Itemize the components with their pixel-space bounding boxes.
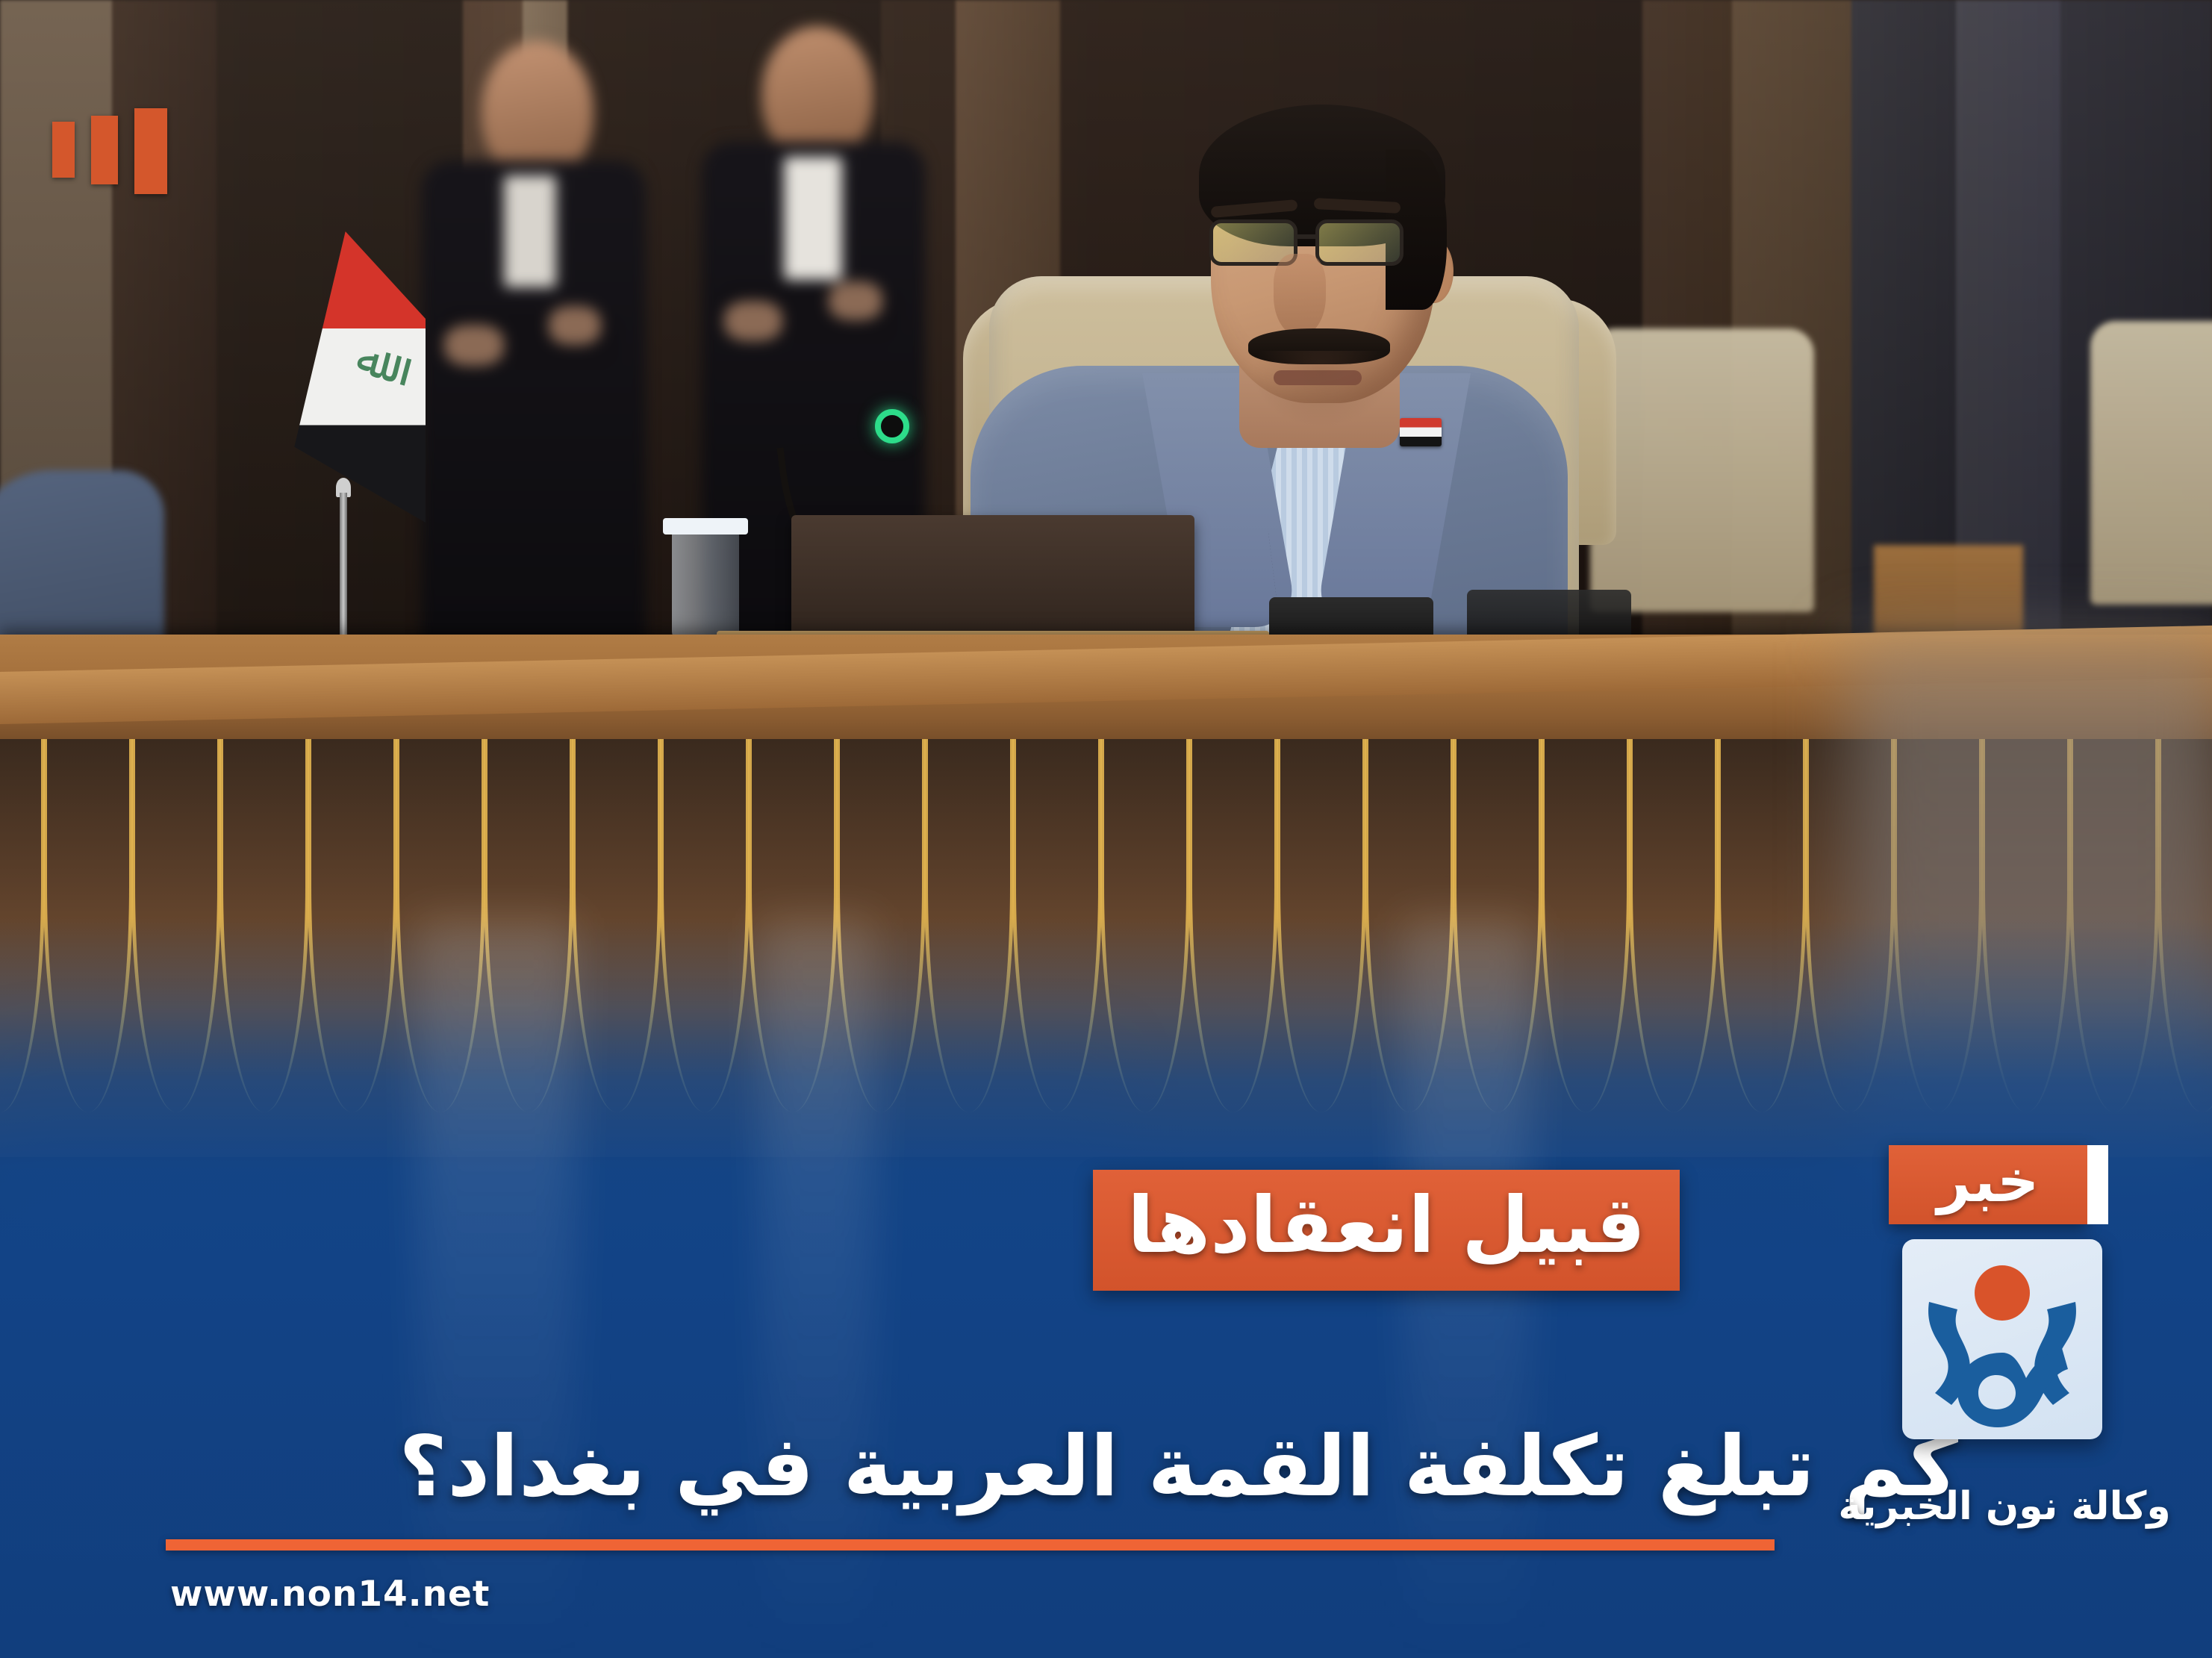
desk-nameplate <box>791 515 1194 649</box>
agency-name: وكالة نون الخبرية <box>1822 1484 2187 1529</box>
subject-nose <box>1274 254 1326 336</box>
headline: كم تبلغ تكلفة القمة العربية في بغداد؟ <box>254 1415 1958 1519</box>
eyeglasses-icon <box>1203 215 1450 269</box>
kicker-badge: قبيل انعقادها <box>1093 1170 1680 1291</box>
site-url[interactable]: www.non14.net <box>170 1574 490 1615</box>
water-glass <box>672 523 739 642</box>
standing-person <box>407 41 653 683</box>
water-glass-lid <box>663 518 748 535</box>
bars-logo-icon <box>52 108 167 194</box>
iraq-flag-lapel-pin <box>1400 418 1442 446</box>
subject-chin <box>1254 351 1389 426</box>
agency-logo[interactable] <box>1902 1239 2102 1439</box>
news-card: ﷲ قبيل انعقادها كم تبلغ تكلفة القمة العر… <box>0 0 2212 1658</box>
news-badge: خبر <box>1889 1145 2087 1224</box>
divider-rule <box>166 1539 1775 1551</box>
news-badge-tab <box>2087 1145 2108 1224</box>
background-chair <box>1590 328 1814 612</box>
news-badge-label: خبر <box>1937 1153 2040 1211</box>
microphone-indicator-icon <box>875 409 909 443</box>
background-chair <box>2090 321 2212 605</box>
